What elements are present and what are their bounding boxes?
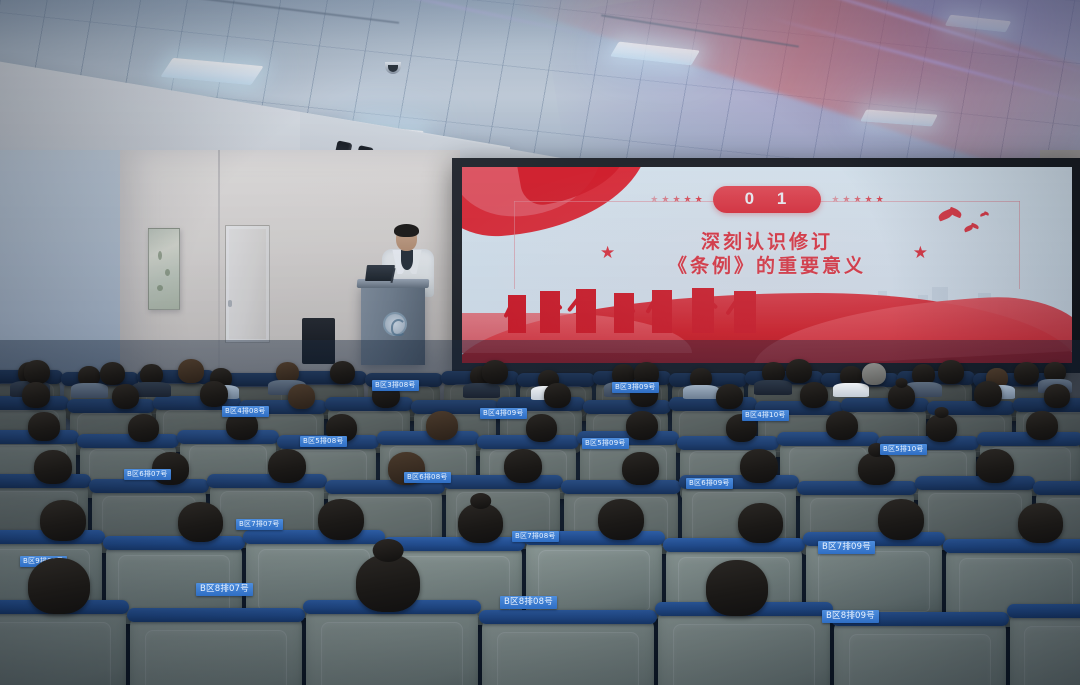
presentation-slide: ★★★★★ 0 1 ★★★★★ ★ ★ 深刻认识修订 《条例》的重要意义 [462, 167, 1072, 363]
audience-area [0, 340, 1080, 685]
seat-number-tag: B区5排10号 [880, 444, 927, 455]
presenter-hair [394, 224, 419, 237]
seat[interactable] [0, 606, 126, 685]
seat-number-tag: B区8排07号 [196, 583, 253, 596]
seat-number-tag: B区6排09号 [686, 478, 733, 489]
silhouette-figure [692, 288, 714, 333]
seat-number-tag: B区4排10号 [742, 410, 789, 421]
silhouette-figure [614, 293, 634, 333]
silhouette-figure [652, 290, 672, 333]
seat-number-tag: B区3排08号 [372, 380, 419, 391]
seat-number-tag: B区7排07号 [236, 519, 283, 530]
seat-number-tag: B区4排08号 [222, 406, 269, 417]
silhouette-figure [508, 295, 526, 333]
seat-number-tag: B区7排09号 [818, 541, 875, 554]
seat[interactable] [658, 608, 830, 685]
door-knob[interactable] [228, 300, 232, 307]
stars-left-icon: ★★★★★ [650, 195, 702, 204]
seat[interactable] [482, 616, 654, 685]
seat-number-tag: B区8排09号 [822, 610, 879, 623]
seat[interactable] [834, 618, 1006, 685]
side-door[interactable] [225, 225, 270, 343]
section-number-badge: 0 1 [713, 186, 822, 213]
seat-number-tag: B区6排07号 [124, 469, 171, 480]
seat[interactable] [1010, 610, 1080, 685]
wall-artwork [148, 228, 180, 310]
auditorium-scene: ★★★★★ 0 1 ★★★★★ ★ ★ 深刻认识修订 《条例》的重要意义 [0, 0, 1080, 685]
seat-number-tag: B区5排09号 [582, 438, 629, 449]
silhouette-figure [576, 289, 596, 333]
seat-number-tag: B区5排08号 [300, 436, 347, 447]
seat-number-tag: B区7排08号 [512, 531, 559, 542]
seat-number-tag: B区6排08号 [404, 472, 451, 483]
presenter-shirt [401, 250, 413, 270]
marching-silhouettes-decor [502, 277, 802, 333]
silhouette-figure [540, 291, 560, 333]
seat[interactable] [306, 606, 478, 685]
seat-number-tag: B区4排09号 [480, 408, 527, 419]
seat-number-tag: B区3排09号 [612, 382, 659, 393]
birds-decor [934, 201, 1014, 241]
seat[interactable] [130, 614, 302, 685]
lectern-emblem [383, 312, 407, 336]
stars-right-icon: ★★★★★ [831, 195, 883, 204]
seat-number-tag: B区8排08号 [500, 596, 557, 609]
silhouette-figure [734, 291, 756, 333]
